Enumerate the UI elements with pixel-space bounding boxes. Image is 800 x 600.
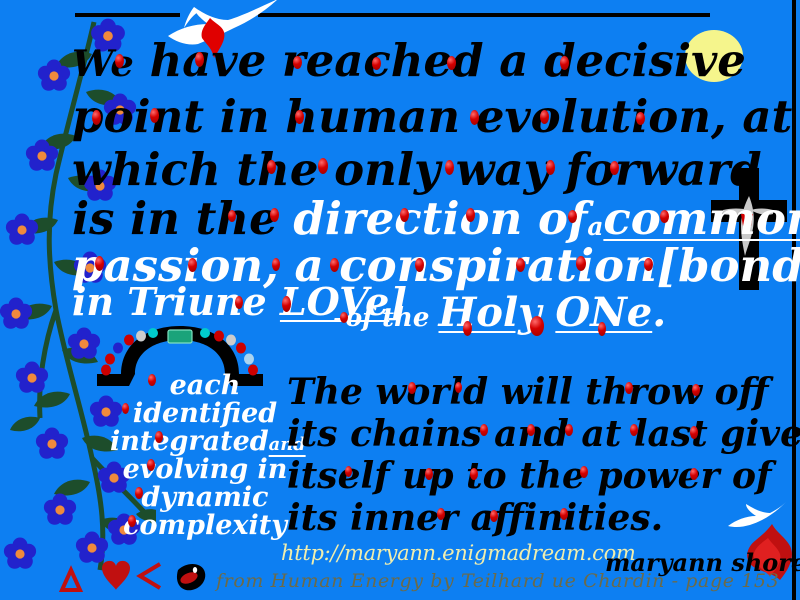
- website-url[interactable]: http://maryann.enigmadream.com: [281, 541, 636, 565]
- chevron-left-icon: [140, 564, 160, 588]
- crown-block-line-5: dynamic: [110, 482, 300, 513]
- quote-seg-the: the: [373, 303, 439, 333]
- crown-block-line-3: integratedand: [110, 426, 300, 457]
- quote-seg-in-triune: in Triune: [72, 279, 280, 324]
- right-block-line-3: itself up to the power of: [287, 458, 772, 494]
- symbol-row: [58, 556, 210, 596]
- right-block-line-4: its inner affinities.: [287, 500, 663, 536]
- quote-line-4: is in the direction ofacommon: [72, 196, 800, 241]
- right-block-line-2: its chains and at last give: [287, 416, 800, 452]
- triangle-icon: [62, 570, 80, 590]
- crown-block-line-2: identified: [110, 398, 300, 429]
- quote-line-2: point in human evolution, at: [72, 94, 792, 139]
- crown-block-integrated: integrated: [110, 426, 269, 457]
- crown-block-line-4: evolving in: [110, 454, 300, 485]
- quote-seg-common: common: [603, 192, 800, 245]
- quote-seg-one: ONe: [555, 289, 652, 336]
- quote-seg-is-in-the: is in the: [72, 192, 293, 245]
- quote-line-3: which the only way forward: [72, 147, 762, 192]
- right-block-line-1: The world will throw off: [287, 374, 768, 410]
- quote-seg-period: .: [652, 289, 666, 336]
- top-rule-right: [258, 13, 710, 17]
- heart-icon: [102, 561, 130, 590]
- right-border-rule: [792, 0, 796, 600]
- quote-seg-space: [541, 289, 555, 336]
- crown-block-line-6: complexity: [110, 510, 300, 541]
- quote-seg-direction-of: direction of: [293, 192, 587, 245]
- quote-word-we: We: [72, 41, 134, 85]
- letter-a-monogram: [177, 564, 205, 590]
- quote-seg-a: a: [587, 212, 603, 241]
- quote-seg-bonded: [bonded: [657, 239, 800, 292]
- artwork-canvas: We have reached a decisive point in huma…: [0, 0, 800, 600]
- source-attribution: from Human Energy by Teilhard ue Chardin…: [216, 570, 779, 592]
- quote-line-7: –of the Holy ONe.: [333, 293, 666, 333]
- quote-seg-dash-of: –of: [333, 303, 373, 332]
- quote-line-1-rest: have reached a decisive: [134, 34, 746, 87]
- quote-line-1: We have reached a decisive: [72, 38, 746, 83]
- crown-block-line-1: each: [110, 370, 300, 401]
- quote-seg-holy: Holy: [439, 289, 542, 336]
